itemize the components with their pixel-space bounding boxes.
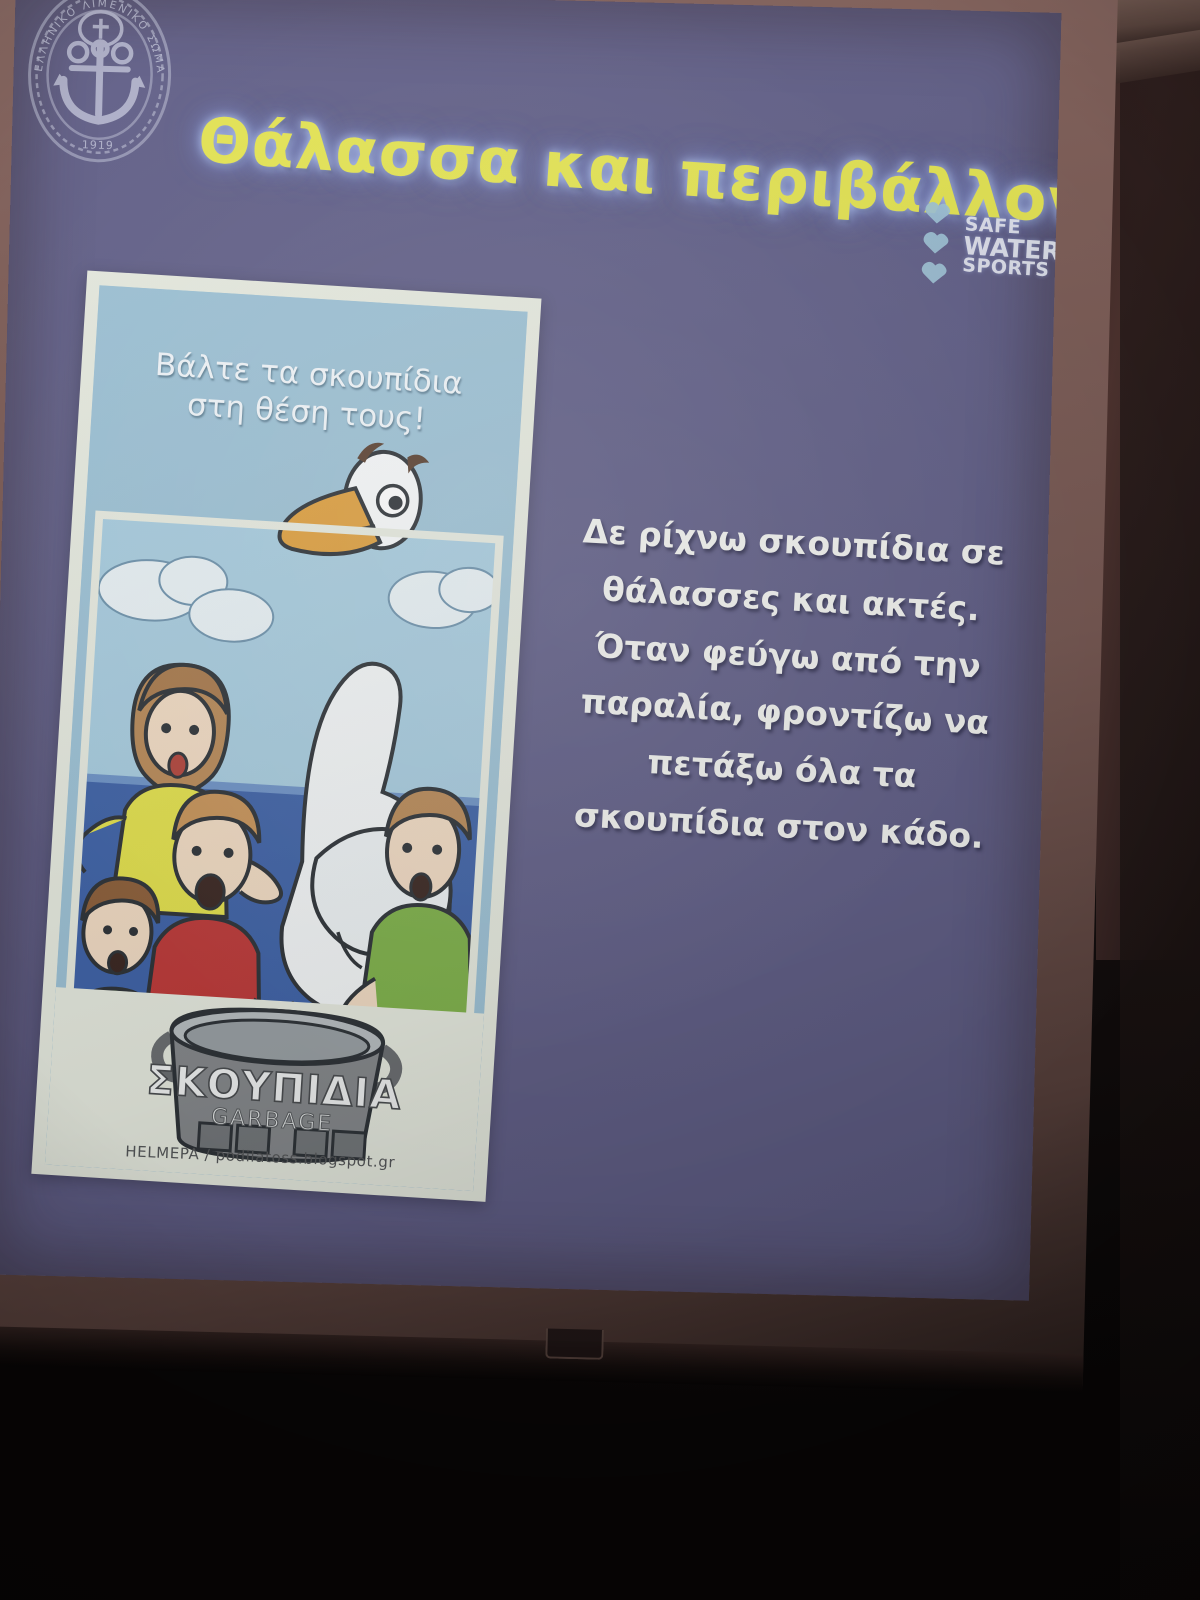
slide-title: Θάλασσα και περιβάλλον bbox=[196, 103, 919, 227]
swimmer-marks-icon bbox=[915, 198, 962, 290]
poster-inner: ΣΚΟΥΠΙΔΙΑ GARBAGE Βάλτε τα σκουπίδια στη… bbox=[45, 285, 528, 1191]
safe-water-sports-logo: SAFE WATER SPORTS bbox=[915, 194, 1039, 299]
svg-text:1919: 1919 bbox=[82, 138, 114, 152]
slide-body-text: Δε ρίχνω σκουπίδια σε θάλασσες και ακτές… bbox=[558, 503, 1015, 866]
presentation-slide: ΕΛΛΗΝΙΚΟ ΛΙΜΕΝΙΚΟ ΣΩΜΑ 1919 Θάλασσα και … bbox=[0, 0, 1061, 1301]
projection-screen: ΕΛΛΗΝΙΚΟ ΛΙΜΕΝΙΚΟ ΣΩΜΑ 1919 Θάλασσα και … bbox=[0, 0, 1118, 1386]
poster-image: ΣΚΟΥΠΙΔΙΑ GARBAGE Βάλτε τα σκουπίδια στη… bbox=[31, 270, 541, 1201]
right-wall-shadow bbox=[1120, 0, 1200, 1600]
sws-line-sports: SPORTS bbox=[962, 257, 1060, 280]
coast-guard-emblem-icon: ΕΛΛΗΝΙΚΟ ΛΙΜΕΝΙΚΟ ΣΩΜΑ 1919 bbox=[17, 0, 182, 169]
screen-pull-handle[interactable] bbox=[545, 1328, 604, 1359]
